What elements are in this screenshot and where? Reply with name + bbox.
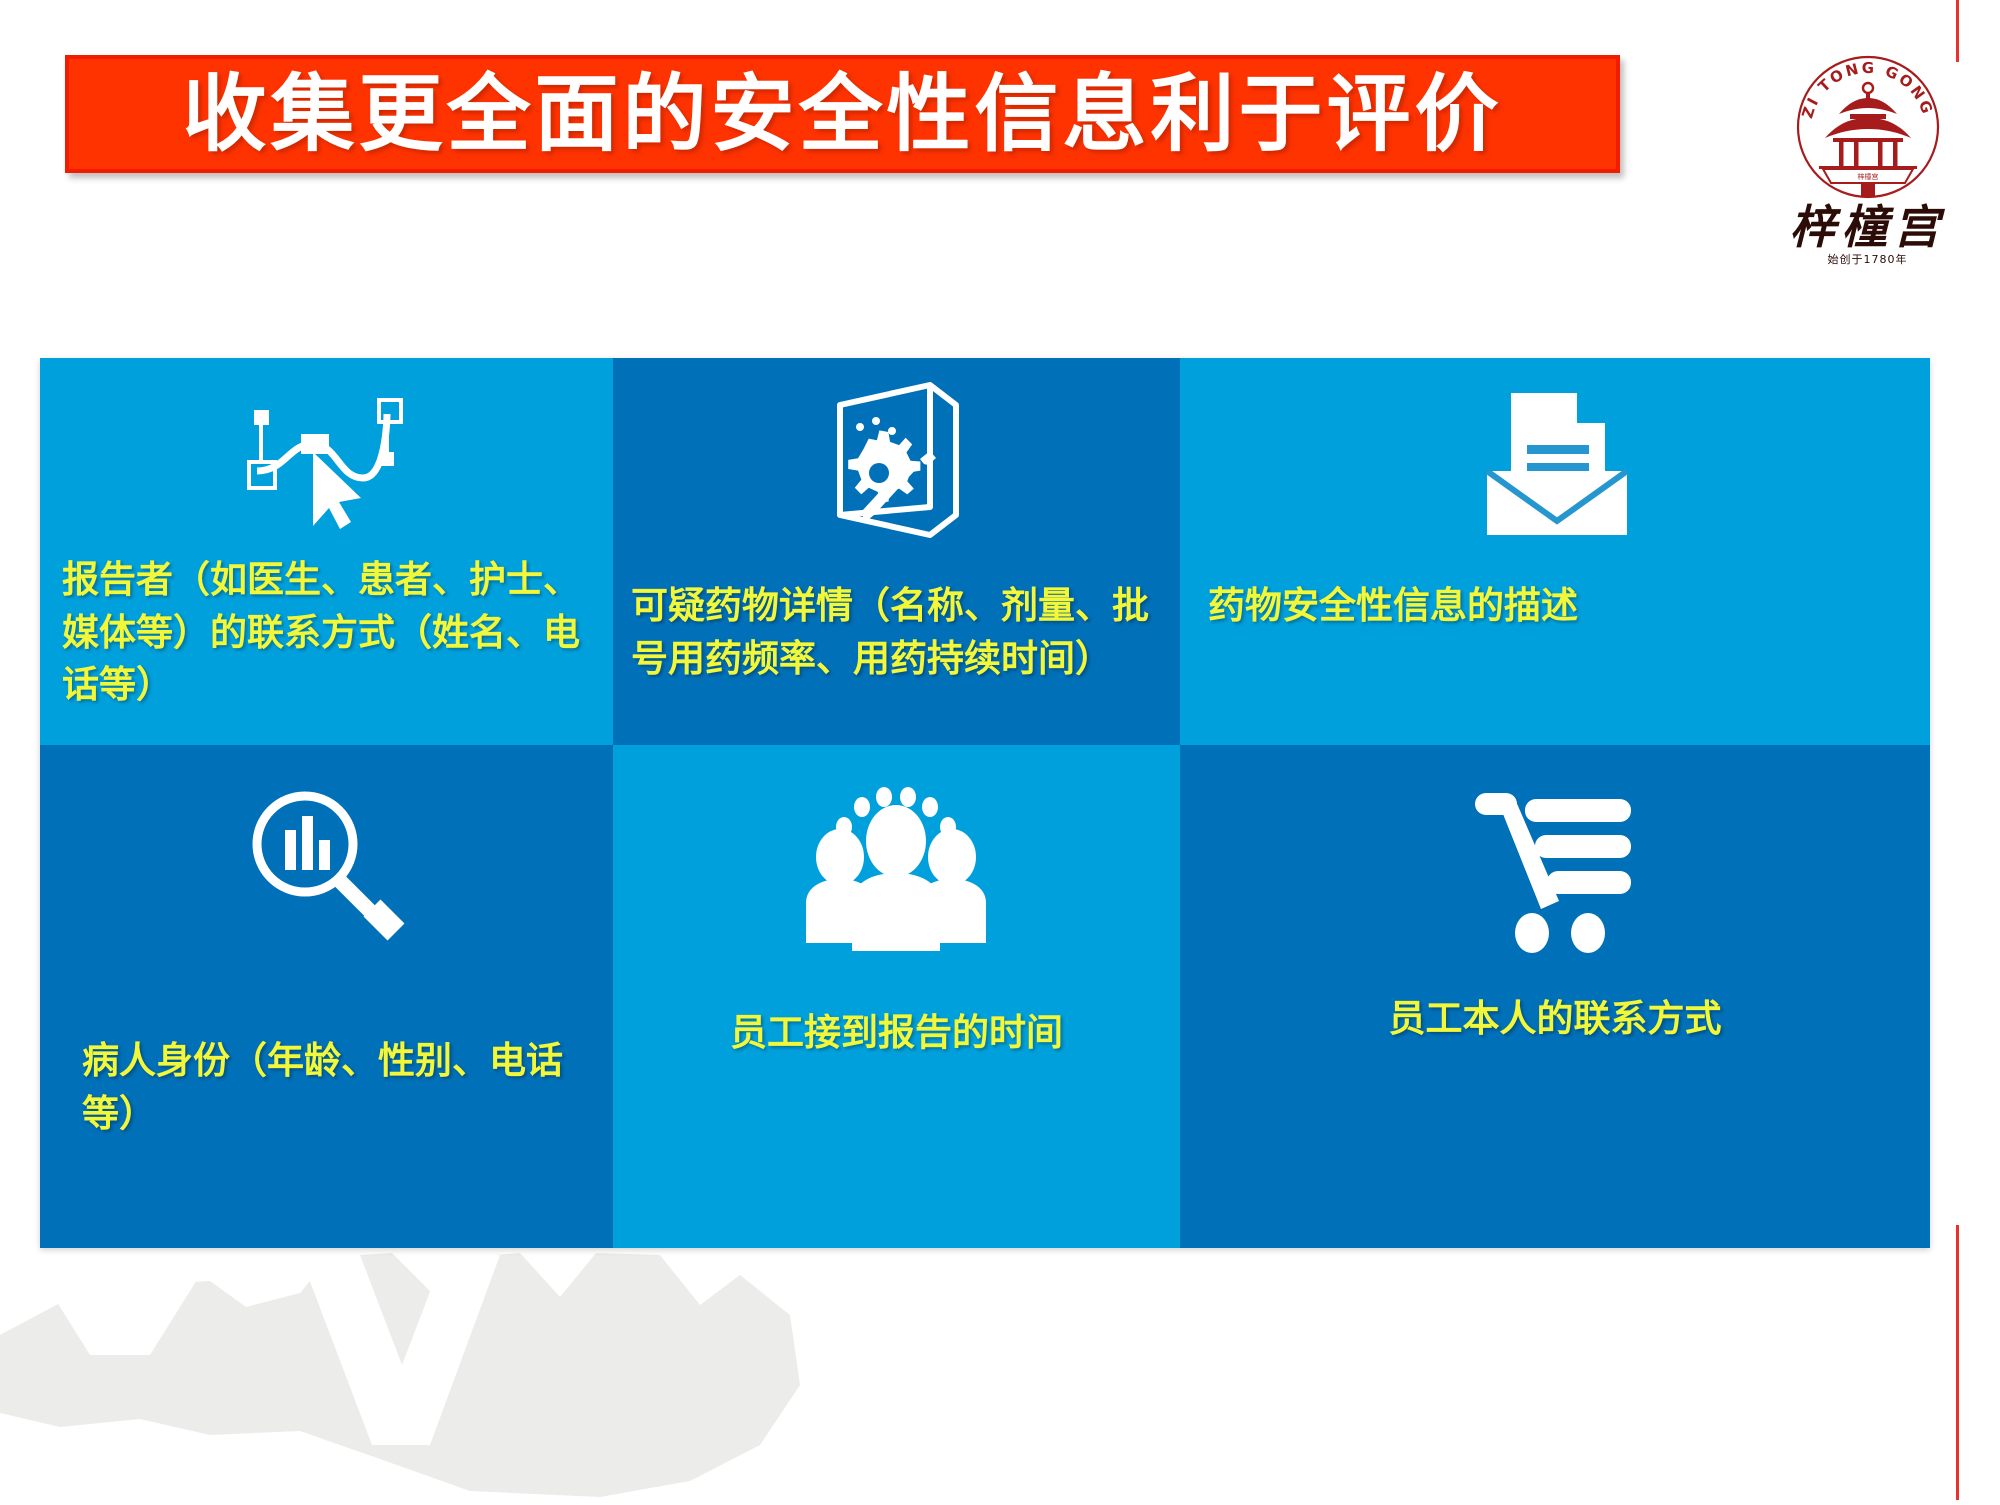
envelope-document-icon	[1180, 370, 1930, 550]
company-logo: ZI TONG GONG 梓橦宫 梓橦宫 始创于1780年	[1775, 52, 1960, 297]
svg-text:梓橦宫: 梓橦宫	[1857, 172, 1878, 181]
info-grid: 报告者（如医生、患者、护士、媒体等）的联系方式（姓名、电话等）	[40, 358, 1930, 1248]
shopping-cart-icon	[1180, 767, 1930, 967]
grid-cell-report-time[interactable]: 员工接到报告的时间	[613, 745, 1180, 1248]
grid-cell-label: 药物安全性信息的描述	[1208, 580, 1912, 633]
logo-wordmark: 梓橦宫	[1775, 204, 1960, 250]
grid-cell-safety-description[interactable]: 药物安全性信息的描述	[1180, 358, 1930, 745]
watermark-graphic	[0, 1245, 1020, 1505]
page-title: 收集更全面的安全性信息利于评价	[182, 72, 1502, 156]
grid-cell-label: 可疑药物详情（名称、剂量、批号用药频率、用药持续时间）	[631, 580, 1172, 685]
settings-panel-gear-wrench-icon	[613, 370, 1180, 550]
pagoda-seal-icon: ZI TONG GONG 梓橦宫	[1793, 52, 1943, 202]
grid-cell-employee-contact[interactable]: 员工本人的联系方式	[1180, 745, 1930, 1248]
accent-rule-bottom	[1956, 1225, 1959, 1500]
bezier-curve-cursor-icon	[40, 376, 613, 546]
grid-cell-label: 员工接到报告的时间	[613, 1007, 1180, 1060]
slide-title-banner: 收集更全面的安全性信息利于评价	[65, 55, 1620, 173]
grid-cell-label: 病人身份（年龄、性别、电话等）	[82, 1035, 595, 1140]
grid-cell-label: 报告者（如医生、患者、护士、媒体等）的联系方式（姓名、电话等）	[62, 554, 595, 712]
grid-cell-drug-details[interactable]: 可疑药物详情（名称、剂量、批号用药频率、用药持续时间）	[613, 358, 1180, 745]
svg-text:ZI TONG GONG: ZI TONG GONG	[1798, 59, 1937, 121]
grid-cell-patient-identity[interactable]: 病人身份（年龄、性别、电话等）	[40, 745, 613, 1248]
grid-cell-reporter-contact[interactable]: 报告者（如医生、患者、护士、媒体等）的联系方式（姓名、电话等）	[40, 358, 613, 745]
grid-cell-label: 员工本人的联系方式	[1180, 993, 1930, 1046]
logo-founded-text: 始创于1780年	[1775, 254, 1960, 265]
magnifier-bar-chart-icon	[40, 767, 613, 967]
people-group-icon	[613, 773, 1180, 973]
